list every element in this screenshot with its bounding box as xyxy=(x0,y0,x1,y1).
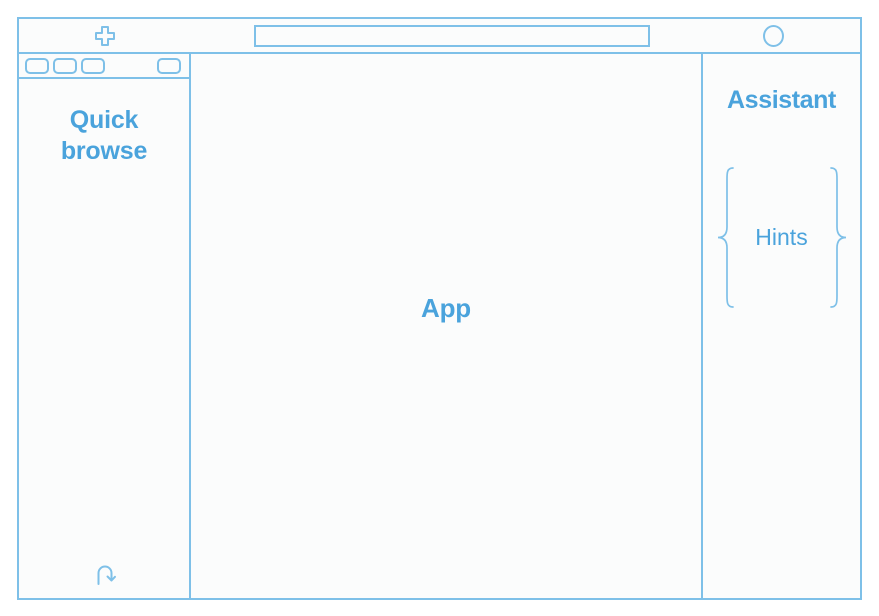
sidebar-tool-1-button[interactable] xyxy=(25,58,49,74)
app-content-area: App xyxy=(191,54,703,598)
assistant-title: Assistant xyxy=(727,86,836,115)
plus-icon xyxy=(94,25,116,47)
sidebar-title-line-1: Quick xyxy=(61,105,147,136)
add-button[interactable] xyxy=(94,25,116,47)
curly-brace-left-icon xyxy=(715,165,737,310)
circle-avatar-icon[interactable] xyxy=(763,25,784,47)
sidebar-tool-2-button[interactable] xyxy=(53,58,77,74)
curly-brace-right-icon xyxy=(827,165,849,310)
hints-label: Hints xyxy=(755,224,807,251)
sidebar-title: Quick browse xyxy=(61,105,147,166)
sidebar-footer xyxy=(19,560,189,590)
top-bar-center-section xyxy=(191,19,700,52)
sidebar-title-line-2: browse xyxy=(61,136,147,167)
u-turn-arrow-button[interactable] xyxy=(90,560,120,590)
top-bar-left-section xyxy=(19,19,191,52)
u-turn-arrow-icon xyxy=(90,560,120,590)
sidebar-tool-3-button[interactable] xyxy=(81,58,105,74)
sidebar-toolbar xyxy=(19,54,189,79)
sidebar-quick-browse: Quick browse xyxy=(19,54,191,598)
app-label: App xyxy=(421,293,471,324)
assistant-panel: Assistant Hints xyxy=(703,54,860,598)
window-body: Quick browse App Assistant xyxy=(19,54,860,598)
top-bar-right-section xyxy=(700,19,860,52)
app-window-wireframe: Quick browse App Assistant xyxy=(17,17,862,600)
sidebar-content: Quick browse xyxy=(19,79,189,598)
sidebar-tool-4-button[interactable] xyxy=(157,58,181,74)
hints-block: Hints xyxy=(715,165,849,310)
search-input[interactable] xyxy=(254,25,650,47)
top-bar xyxy=(19,19,860,54)
